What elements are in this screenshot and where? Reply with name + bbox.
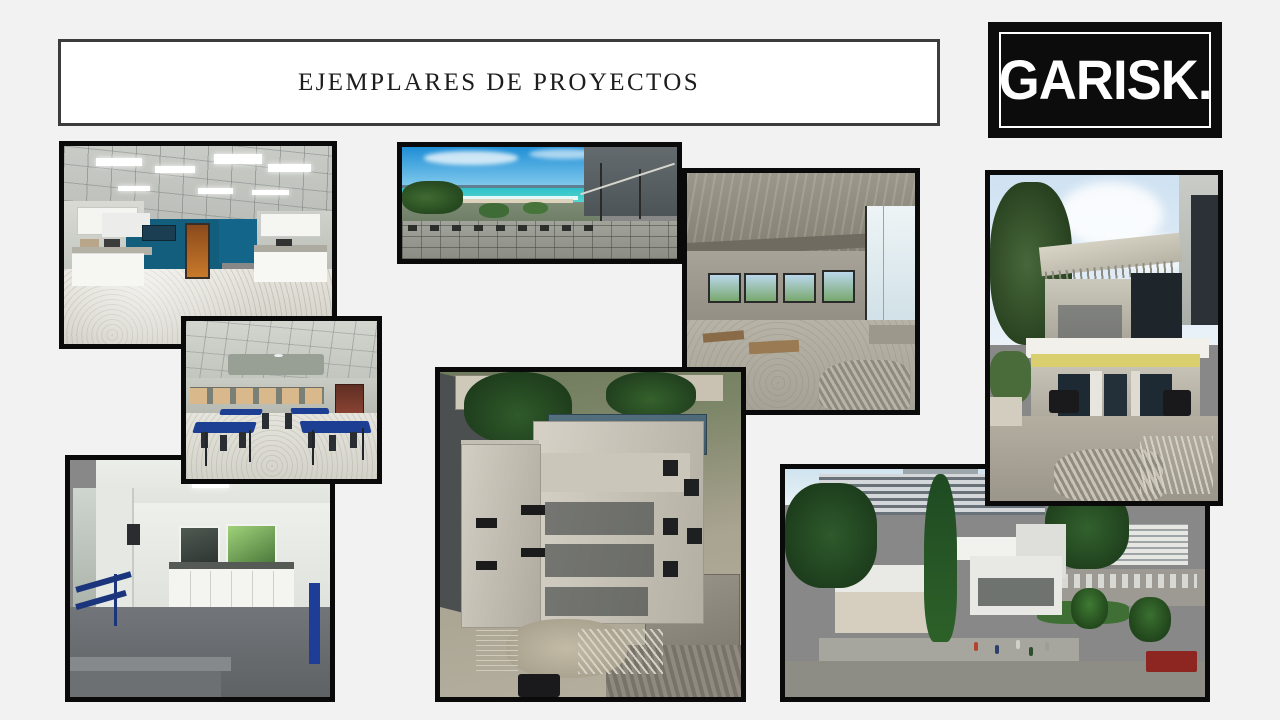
photo-drone-building-under-construction: Vista aerea de edificio de tres niveles … bbox=[435, 367, 746, 702]
logo-wordmark: GARISK. bbox=[999, 52, 1212, 108]
photo-rooftop-block-wall-ocean: Obra en azotea con muro de bloques frent… bbox=[397, 142, 682, 264]
photo-finished-washroom-vanity: Area de lavamanos terminada con tope y e… bbox=[65, 455, 335, 702]
page-title: EJEMPLARES DE PROYECTOS bbox=[298, 69, 700, 97]
photo-building-facade-renovation: Fachada de edificio de dos niveles en re… bbox=[985, 170, 1223, 506]
title-box: EJEMPLARES DE PROYECTOS bbox=[58, 39, 940, 126]
garisk-logo: GARISK. bbox=[988, 22, 1222, 138]
photo-image bbox=[440, 372, 741, 697]
photo-image bbox=[64, 146, 332, 344]
photo-image bbox=[990, 175, 1218, 501]
photo-image bbox=[70, 460, 330, 697]
photo-multipurpose-room: Salon multiuso con mesas plegables azule… bbox=[181, 316, 382, 484]
presentation-slide: EJEMPLARES DE PROYECTOS GARISK. bbox=[0, 0, 1280, 720]
photo-image bbox=[402, 147, 677, 259]
logo-inner-border: GARISK. bbox=[999, 32, 1211, 128]
photo-image bbox=[186, 321, 377, 479]
